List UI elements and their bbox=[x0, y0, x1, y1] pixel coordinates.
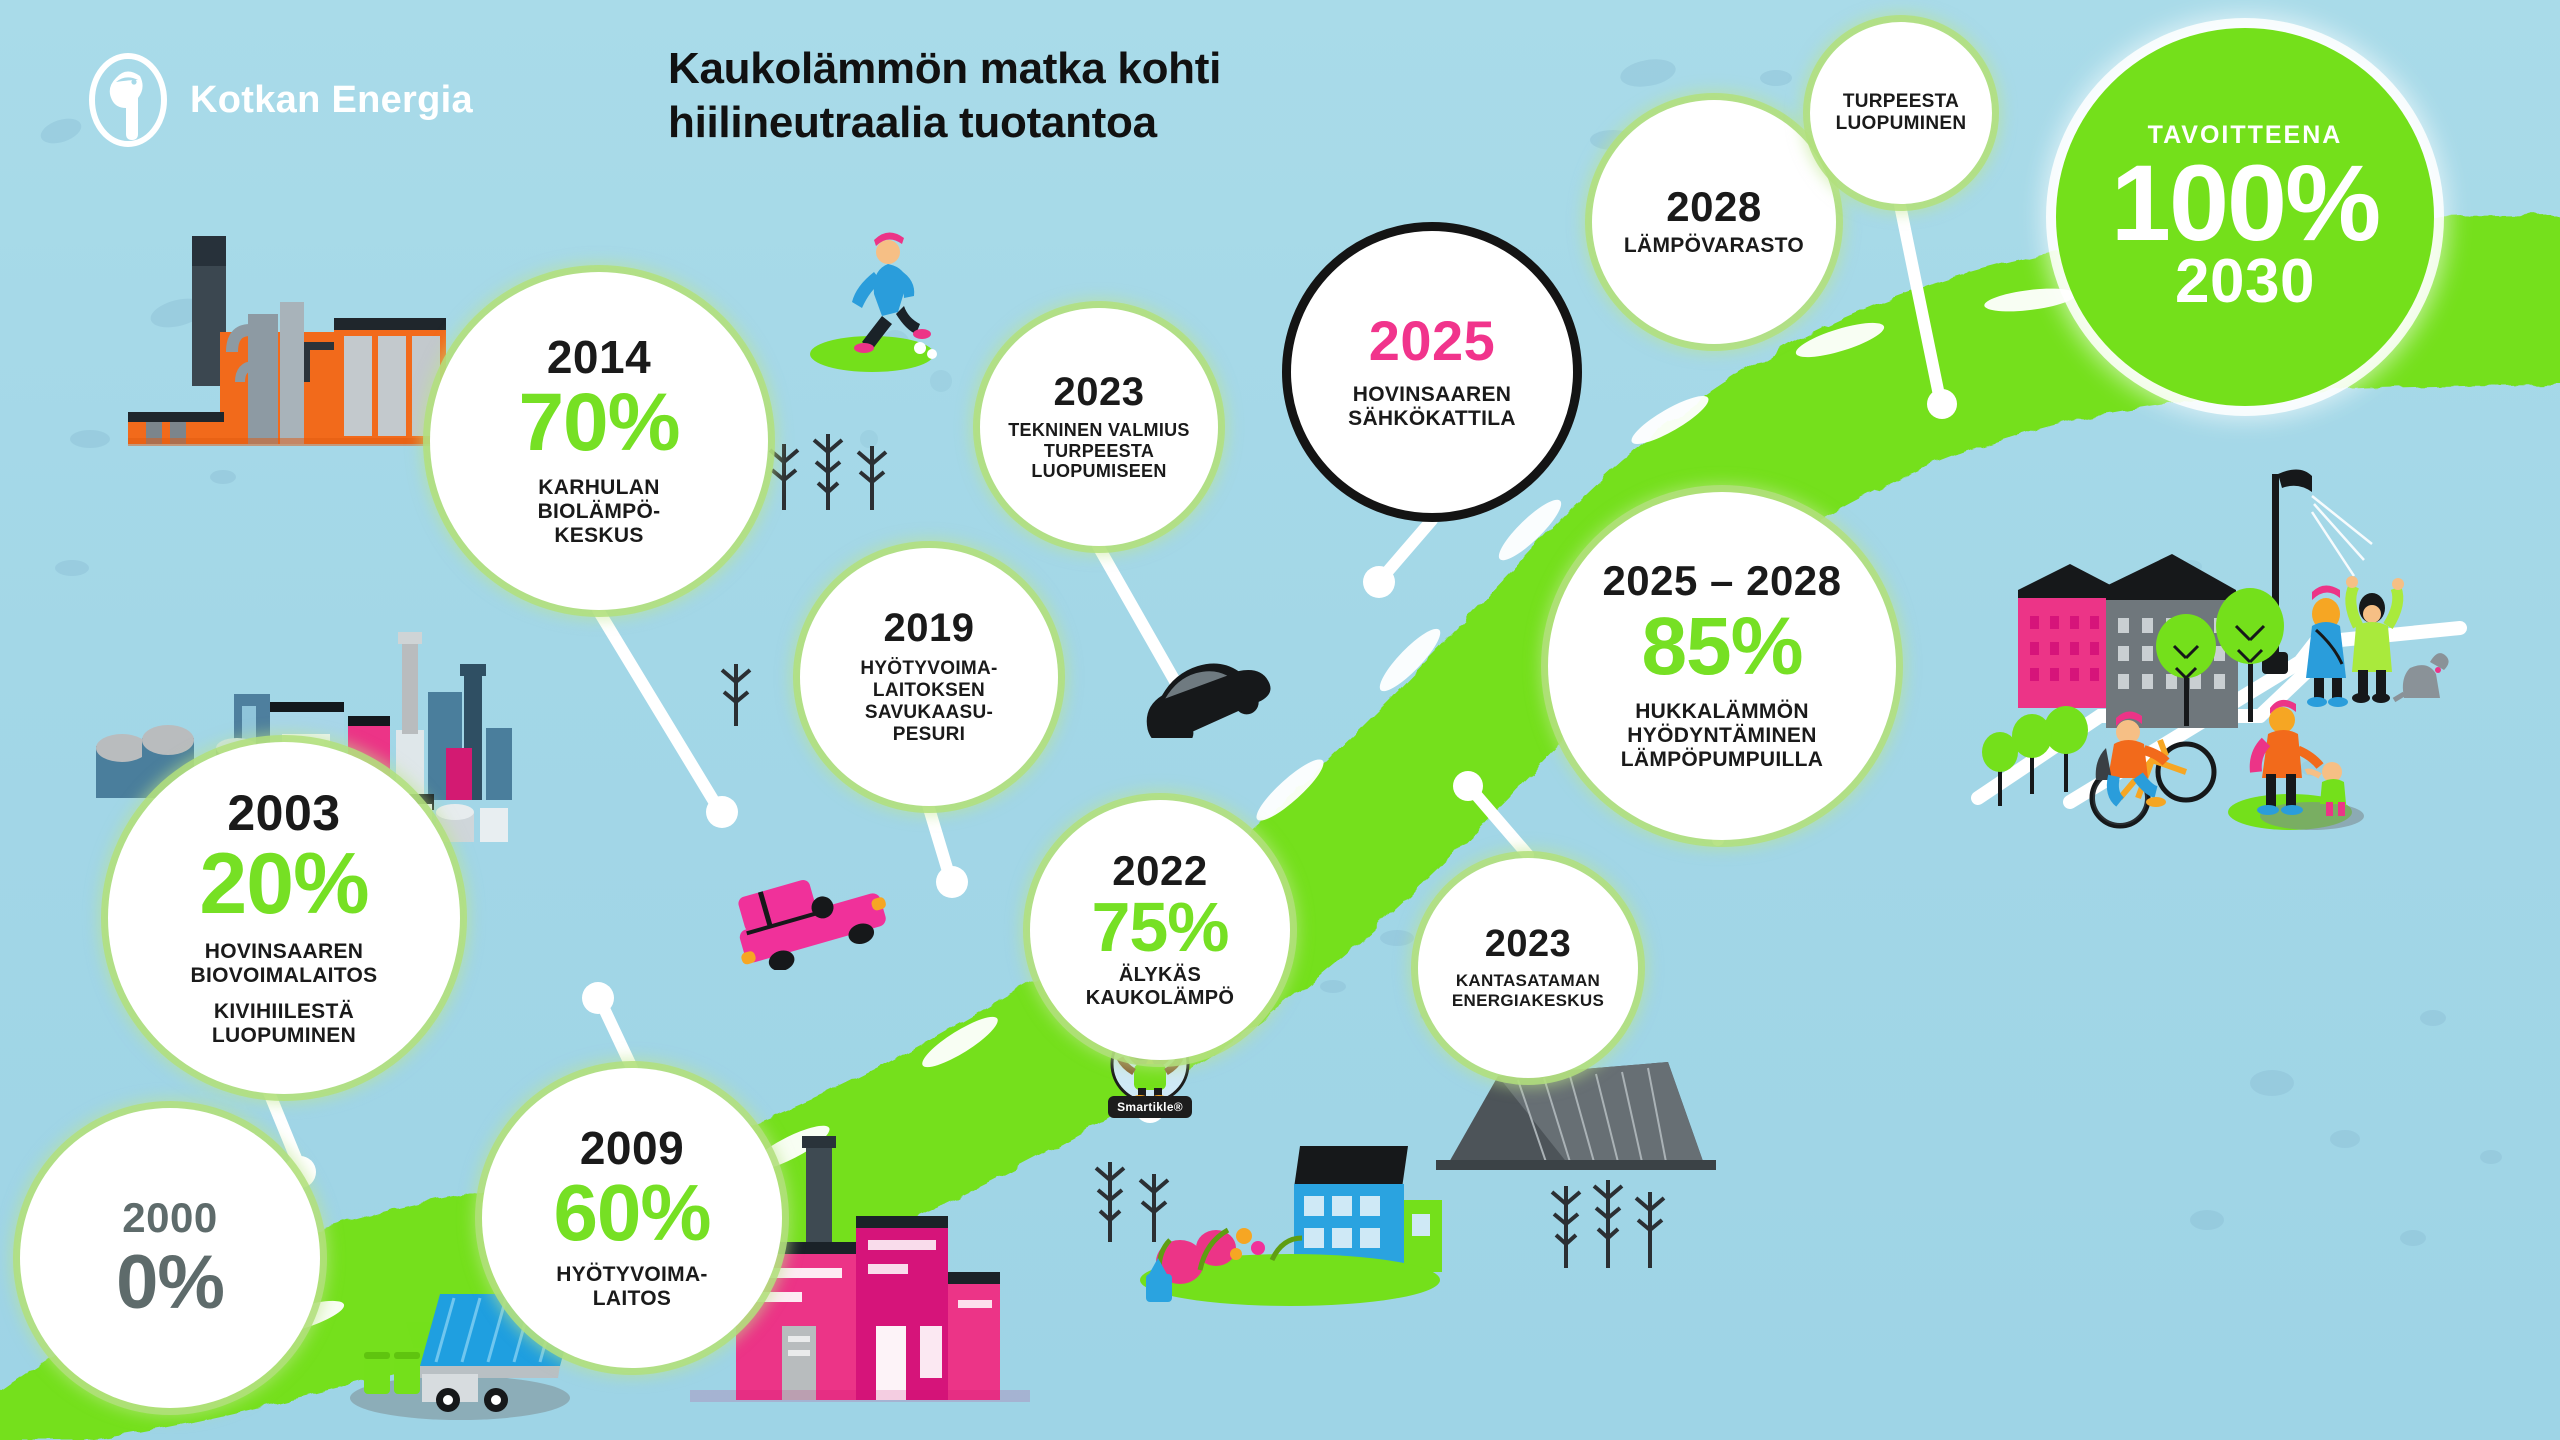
milestone-2009[interactable]: 2009 60% HYÖTYVOIMA- LAITOS bbox=[482, 1068, 782, 1368]
title-line-2: hiilineutraalia tuotantoa bbox=[668, 96, 1488, 150]
milestone-2019[interactable]: 2019 HYÖTYVOIMA- LAITOKSEN SAVUKAASU- PE… bbox=[800, 548, 1058, 806]
milestone-caption: TEKNINEN VALMIUS TURPEESTA LUOPUMISEEN bbox=[1008, 420, 1189, 482]
milestone-year: 2014 bbox=[547, 334, 651, 380]
milestone-2025-highlighted[interactable]: 2025 HOVINSAAREN SÄHKÖKATTILA bbox=[1282, 222, 1582, 522]
milestone-year: 2000 bbox=[122, 1197, 217, 1239]
milestone-year: 2019 bbox=[884, 608, 975, 648]
milestone-percent: 70% bbox=[518, 384, 679, 462]
milestone-year: 2023 bbox=[1054, 372, 1145, 412]
milestone-year: 2023 bbox=[1485, 925, 1572, 963]
milestone-year: 2003 bbox=[227, 788, 340, 838]
milestone-caption: LÄMPÖVARASTO bbox=[1624, 234, 1804, 258]
milestone-turpeesta-luopuminen[interactable]: TURPEESTA LUOPUMINEN bbox=[1810, 22, 1992, 204]
milestone-2030-goal[interactable]: TAVOITTEENA 100% 2030 bbox=[2056, 28, 2434, 406]
city-scene-illustration bbox=[1960, 430, 2560, 830]
jogger-illustration bbox=[800, 230, 950, 380]
milestone-year: 2009 bbox=[580, 1125, 684, 1171]
milestone-percent: 75% bbox=[1091, 894, 1228, 961]
title-line-1: Kaukolämmön matka kohti bbox=[668, 42, 1488, 96]
milestone-caption: KARHULAN BIOLÄMPÖ- KESKUS bbox=[538, 476, 661, 548]
milestone-percent: 20% bbox=[199, 844, 368, 926]
milestone-2025-2028[interactable]: 2025 – 2028 85% HUKKALÄMMÖN HYÖDYNTÄMINE… bbox=[1548, 492, 1896, 840]
kotkan-energia-eagle-logo-icon bbox=[88, 52, 168, 148]
milestone-year: 2025 – 2028 bbox=[1602, 560, 1841, 602]
milestone-percent: 85% bbox=[1641, 608, 1802, 686]
page-title: Kaukolämmön matka kohti hiilineutraalia … bbox=[668, 42, 1488, 149]
milestone-2023-tekninen-valmius[interactable]: 2023 TEKNINEN VALMIUS TURPEESTA LUOPUMIS… bbox=[980, 308, 1218, 546]
goal-year: 2030 bbox=[2175, 251, 2315, 313]
goal-percent: 100% bbox=[2111, 152, 2379, 255]
milestone-caption: ÄLYKÄS KAUKOLÄMPÖ bbox=[1086, 964, 1235, 1010]
milestone-caption: HUKKALÄMMÖN HYÖDYNTÄMINEN LÄMPÖPUMPUILLA bbox=[1621, 700, 1824, 772]
milestone-caption-secondary: KIVIHIILESTÄ LUOPUMINEN bbox=[212, 1000, 356, 1048]
milestone-year: 2022 bbox=[1112, 850, 1207, 892]
milestone-year: 2025 bbox=[1369, 313, 1496, 369]
karhula-plant-illustration bbox=[128, 222, 448, 502]
trees-cluster-right bbox=[1540, 1160, 1680, 1280]
milestone-2028[interactable]: 2028 LÄMPÖVARASTO bbox=[1592, 100, 1836, 344]
infographic-canvas: Smartikle® Kotkan Energia Kaukolämmön ma… bbox=[0, 0, 2560, 1440]
milestone-caption: HYÖTYVOIMA- LAITOS bbox=[556, 1263, 707, 1311]
trees-cluster-left bbox=[760, 400, 910, 530]
pink-car-illustration bbox=[712, 860, 902, 970]
milestone-caption: KANTASATAMAN ENERGIAKESKUS bbox=[1452, 971, 1604, 1010]
milestone-year: 2028 bbox=[1666, 186, 1761, 228]
milestone-caption: TURPEESTA LUOPUMINEN bbox=[1836, 91, 1967, 135]
milestone-2023-kantasatama[interactable]: 2023 KANTASATAMAN ENERGIAKESKUS bbox=[1418, 858, 1638, 1078]
milestone-caption: HOVINSAAREN SÄHKÖKATTILA bbox=[1348, 383, 1516, 431]
milestone-caption: HOVINSAAREN BIOVOIMALAITOS bbox=[191, 940, 378, 988]
milestone-2000[interactable]: 2000 0% bbox=[20, 1108, 320, 1408]
smartikle-label: Smartikle® bbox=[1108, 1096, 1192, 1118]
tree-single-left bbox=[702, 640, 772, 730]
house-garden-illustration bbox=[1140, 1140, 1450, 1370]
milestone-2014[interactable]: 2014 70% KARHULAN BIOLÄMPÖ- KESKUS bbox=[430, 272, 768, 610]
brand-name: Kotkan Energia bbox=[190, 79, 473, 122]
milestone-percent: 0% bbox=[116, 1247, 224, 1319]
milestone-2003[interactable]: 2003 20% HOVINSAAREN BIOVOIMALAITOS KIVI… bbox=[108, 742, 460, 1094]
brand-logo: Kotkan Energia bbox=[88, 52, 473, 148]
milestone-percent: 60% bbox=[553, 1175, 710, 1251]
milestone-caption: HYÖTYVOIMA- LAITOKSEN SAVUKAASU- PESURI bbox=[860, 658, 997, 745]
milestone-2022[interactable]: 2022 75% ÄLYKÄS KAUKOLÄMPÖ bbox=[1030, 800, 1290, 1060]
black-car-illustration bbox=[1128, 648, 1278, 738]
